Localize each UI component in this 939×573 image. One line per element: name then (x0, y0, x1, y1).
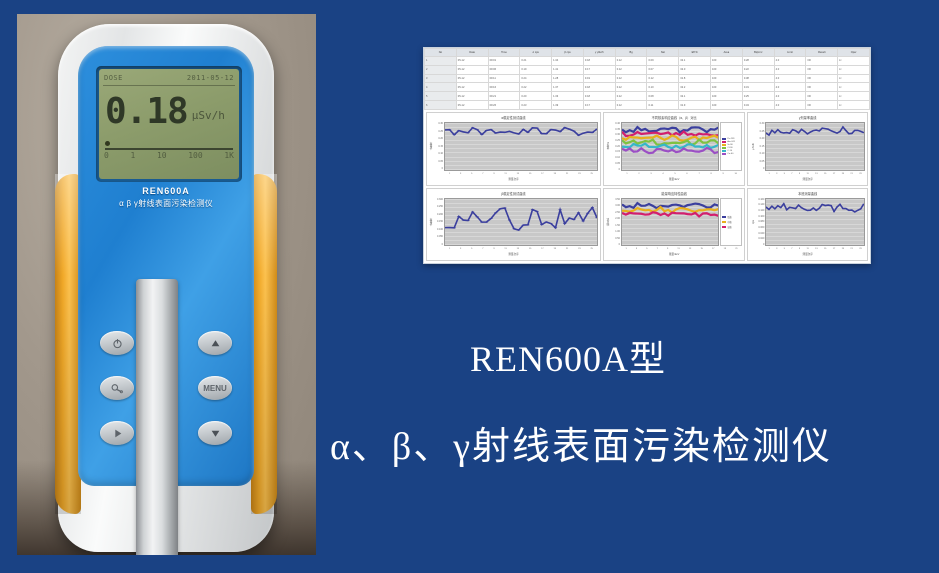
chart-title: 本底测量曲线 (750, 191, 865, 198)
chart-data-point (563, 223, 566, 224)
chart-data-point (558, 209, 561, 210)
chart-data-point (522, 224, 525, 225)
x-tick: 7 (698, 173, 699, 175)
legend-item: 低能 (722, 215, 740, 219)
legend-item: Pu-239 (722, 138, 740, 140)
chart-data-point (860, 131, 862, 132)
chart-x-axis-label: 测量次序 (750, 177, 865, 183)
table-column-header: Oper (838, 49, 870, 57)
legend-label: 高能 (727, 225, 731, 229)
y-tick: 0.30 (435, 122, 443, 125)
lcd-scale-tick: 10 (157, 151, 167, 165)
y-tick: 0.15 (435, 145, 443, 148)
table-cell: 0.38 (742, 74, 774, 83)
x-tick: 11 (806, 173, 808, 175)
x-tick: 21 (850, 173, 852, 175)
x-tick: 15 (824, 248, 826, 250)
chart-data-point (476, 216, 479, 217)
chart-data-point (792, 129, 794, 130)
x-tick: 13 (815, 173, 817, 175)
x-tick: 8 (710, 173, 711, 175)
chart-data-point (795, 130, 797, 131)
legend-swatch (722, 150, 726, 152)
x-tick: 7 (482, 173, 483, 175)
x-tick: 9 (493, 248, 494, 250)
table-cell: 0.12 (615, 92, 647, 101)
x-tick: 25 (590, 173, 592, 175)
chart-data-point (489, 129, 492, 130)
y-tick: 1.00 (612, 230, 620, 233)
legend-swatch (722, 221, 726, 223)
y-tick: 0.060 (756, 226, 764, 229)
chart-data-point (819, 207, 821, 208)
y-tick: 0.120 (756, 209, 764, 212)
chart-data-point (503, 207, 506, 208)
y-tick: 0.35 (612, 128, 620, 131)
x-tick: 19 (842, 173, 844, 175)
search-button[interactable] (100, 376, 134, 400)
table-cell: 0.22 (742, 65, 774, 74)
y-tick: 0.10 (435, 152, 443, 155)
chart-y-ticks: 0.1600.1400.1200.1000.0800.0600.0400.020… (756, 198, 765, 247)
chart-data-point (499, 132, 502, 133)
table-cell: 0.18 (583, 57, 615, 66)
chart-x-axis-label: 测量次序 (750, 252, 865, 258)
lcd-scale-tick: 100 (188, 151, 202, 165)
power-button[interactable] (100, 331, 134, 355)
product-description-title: α、β、γ射线表面污染检测仪 (330, 415, 930, 470)
chart-data-point (780, 132, 782, 133)
chart-data-point (549, 129, 552, 130)
chart-data-point (471, 211, 474, 212)
x-tick: 5 (646, 248, 647, 250)
table-row[interactable]: 405-1209:160.221.370.180.120.1032.21000.… (425, 83, 870, 92)
legend-item: 中能 (722, 220, 740, 224)
chart-data-point (816, 209, 818, 210)
chart-series-line (622, 212, 718, 216)
chart-data-point (448, 129, 451, 130)
chart-data-point (833, 210, 835, 211)
chart-data-point (485, 130, 488, 131)
table-cell: 0.11 (647, 101, 679, 110)
table-column-header: No (425, 49, 457, 57)
chart-data-point (851, 133, 853, 134)
lcd-screen: DOSE 2011-05-12 0.18 μSv/h 0 1 10 100 (99, 69, 239, 179)
chart-data-point (545, 221, 548, 222)
chart-gamma-dose[interactable]: γ剂量率曲线μSv/h0.300.250.200.150.100.0501357… (747, 112, 868, 186)
chart-data-point (535, 128, 538, 129)
chart-series-line (622, 207, 718, 213)
table-cell: 1.37 (552, 83, 584, 92)
lcd-reading-unit: μSv/h (192, 109, 225, 122)
chart-data-point (462, 131, 465, 132)
x-tick: 11 (677, 248, 679, 250)
x-tick: 15 (824, 173, 826, 175)
chart-data-point (554, 130, 557, 131)
x-tick: 3 (776, 173, 777, 175)
chart-data-point (768, 208, 770, 209)
table-cell: 0.19 (583, 74, 615, 83)
chart-x-axis-label: 能量/keV (606, 177, 742, 183)
chart-data-point (494, 212, 497, 213)
chart-multi-nuclide[interactable]: 不同核素响应曲线（α、β）对比效率%0.400.350.300.250.200.… (603, 112, 745, 186)
table-cell: 0.12 (615, 101, 647, 110)
menu-button[interactable]: MENU (198, 376, 232, 400)
x-tick: 23 (578, 173, 580, 175)
chart-data-point (854, 211, 856, 212)
y-tick: 0.20 (756, 137, 764, 140)
chart-alpha-stability[interactable]: α稳定性测试曲线计数率0.300.250.200.150.100.0501357… (426, 112, 601, 186)
legend-item: 高能 (722, 225, 740, 229)
x-tick: 15 (700, 248, 702, 250)
chart-y-ticks: 0.300.250.200.150.100.050 (756, 122, 765, 171)
x-tick: 13 (517, 248, 519, 250)
table-header-row: NoDateTimeα cpsβ cpsγ μSv/hBgNetEff %Are… (425, 49, 870, 57)
x-tick: 4 (662, 173, 663, 175)
chart-y-ticks: 0.3000.2500.2000.1500.1000.0500 (435, 198, 444, 247)
chart-data-point (581, 220, 584, 221)
x-tick: 9 (799, 248, 800, 250)
x-tick: 5 (471, 248, 472, 250)
table-cell: OK (806, 74, 838, 83)
x-tick: 13 (517, 173, 519, 175)
chart-data-point (798, 204, 800, 205)
chart-data-point (466, 219, 469, 220)
x-tick: 19 (724, 248, 726, 250)
x-tick: 5 (674, 173, 675, 175)
chart-title: γ剂量率曲线 (750, 115, 865, 122)
nameplate-description: α β γ射线表面污染检测仪 (78, 198, 254, 209)
chart-data-point (563, 127, 566, 128)
y-tick: 0.100 (435, 228, 443, 231)
down-button[interactable] (198, 421, 232, 445)
chart-energy-response[interactable]: 能量响应特性曲线响应比3.503.002.502.001.501.000.500… (603, 188, 745, 262)
lcd-scale-tick: 1K (224, 151, 234, 165)
table-cell: 100 (711, 74, 743, 83)
chart-plot-area (444, 198, 598, 247)
table-cell: 0.34 (742, 101, 774, 110)
table-cell: 32.0 (679, 65, 711, 74)
x-tick: 13 (689, 248, 691, 250)
y-tick: 0.040 (756, 232, 764, 235)
chart-data-point (839, 131, 841, 132)
legend-swatch (722, 144, 726, 146)
y-tick: 0.100 (756, 215, 764, 218)
table-cell: 32.2 (679, 83, 711, 92)
x-tick: 21 (566, 173, 568, 175)
x-tick: 21 (735, 248, 737, 250)
y-tick: 0.050 (435, 235, 443, 238)
chart-data-point (526, 224, 529, 225)
legend-swatch (722, 138, 726, 140)
chart-data-point (768, 135, 770, 136)
table-cell: 100 (711, 57, 743, 66)
table-row[interactable]: 305-1209:110.241.280.190.120.1231.81000.… (425, 74, 870, 83)
table-cell: LI (838, 92, 870, 101)
chart-series-line (622, 135, 718, 140)
table-cell: 1.41 (552, 65, 584, 74)
x-tick: 5 (471, 173, 472, 175)
x-tick: 9 (722, 173, 723, 175)
play-button[interactable] (100, 421, 134, 445)
chart-data-point (540, 133, 543, 134)
chart-x-axis-label: 测量次序 (429, 177, 598, 183)
x-tick: 21 (566, 248, 568, 250)
table-column-header: Limit (774, 49, 806, 57)
x-tick: 11 (504, 248, 506, 250)
chart-data-point (591, 132, 594, 133)
table-column-header: Net (647, 49, 679, 57)
chart-background[interactable]: 本底测量曲线cps0.1600.1400.1200.1000.0800.0600… (747, 188, 868, 262)
x-tick: 13 (815, 248, 817, 250)
x-tick: 5 (784, 173, 785, 175)
chart-data-point (508, 131, 511, 132)
table-cell: 0.17 (583, 101, 615, 110)
chart-y-ticks: 0.300.250.200.150.100.050 (435, 122, 444, 171)
chart-title: α稳定性测试曲线 (429, 115, 598, 122)
table-cell: 0.19 (520, 65, 552, 74)
chart-data-point (480, 221, 483, 222)
table-cell: LI (838, 65, 870, 74)
chart-data-point (777, 205, 779, 206)
chart-data-point (595, 217, 597, 218)
chart-data-point (821, 203, 823, 204)
lcd-status-left: DOSE (104, 74, 123, 82)
y-tick: 0.020 (756, 237, 764, 240)
x-tick: 15 (529, 248, 531, 250)
table-cell: 09:01 (488, 57, 520, 66)
table-cell: 32.1 (679, 92, 711, 101)
chart-plot-area (621, 122, 719, 171)
chart-series-line (622, 144, 718, 149)
lcd-reading-value: 0.18 (105, 94, 188, 130)
legend-item: C-14 (722, 150, 740, 152)
y-tick: 3.00 (612, 204, 620, 207)
chart-data-point (462, 219, 465, 220)
table-cell: 4.0 (774, 57, 806, 66)
lcd-scale-tick: 1 (130, 151, 135, 165)
legend-label: 中能 (727, 220, 731, 224)
chart-data-point (830, 205, 832, 206)
magnifier-icon (111, 383, 123, 394)
y-tick: 0.05 (612, 162, 620, 165)
chart-y-ticks: 3.503.002.502.001.501.000.500 (612, 198, 621, 247)
y-tick: 0.30 (756, 122, 764, 125)
x-tick: 6 (686, 173, 687, 175)
y-tick: 2.00 (612, 217, 620, 220)
table-cell: 05-12 (456, 65, 488, 74)
chart-data-point (833, 131, 835, 132)
chart-data-point (801, 207, 803, 208)
x-tick: 9 (667, 248, 668, 250)
y-tick: 0.140 (756, 203, 764, 206)
y-tick: 0.25 (612, 139, 620, 142)
table-row[interactable]: 505-1209:210.201.330.180.120.0832.11000.… (425, 92, 870, 101)
chart-plot-area (765, 198, 865, 247)
chart-data-point (854, 130, 856, 131)
x-tick: 7 (791, 248, 792, 250)
x-tick: 7 (791, 173, 792, 175)
radiation-detector-device: DOSE 2011-05-12 0.18 μSv/h 0 1 10 100 (58, 24, 274, 552)
table-column-header: Area (711, 49, 743, 57)
table-cell: LI (838, 74, 870, 83)
chart-data-point (499, 208, 502, 209)
chart-data-point (512, 132, 515, 133)
product-photo: DOSE 2011-05-12 0.18 μSv/h 0 1 10 100 (17, 14, 316, 555)
legend-swatch (722, 216, 726, 218)
x-tick: 21 (850, 248, 852, 250)
chart-data-point (453, 227, 456, 228)
chart-data-point (810, 132, 812, 133)
chart-data-point (540, 224, 543, 225)
table-cell: 4.0 (774, 92, 806, 101)
chart-data-point (845, 208, 847, 209)
chart-data-point (795, 208, 797, 209)
table-cell: 31.9 (679, 101, 711, 110)
table-cell: 0.21 (520, 57, 552, 66)
table-cell: 0.25 (742, 92, 774, 101)
chart-data-point (466, 132, 469, 133)
table-cell: 0.07 (647, 65, 679, 74)
x-tick: 23 (859, 248, 861, 250)
chart-data-point (804, 208, 806, 209)
chart-data-point (586, 132, 589, 133)
y-tick: 0.150 (435, 220, 443, 223)
chart-data-point (789, 133, 791, 134)
up-button[interactable] (198, 331, 232, 355)
table-cell: 4.0 (774, 65, 806, 74)
chart-data-point (535, 210, 538, 211)
table-cell: 4.0 (774, 83, 806, 92)
table-column-header: β cps (552, 49, 584, 57)
chart-data-point (836, 133, 838, 134)
table-cell: 0.18 (583, 83, 615, 92)
table-column-header: Result (806, 49, 838, 57)
y-tick: 3.50 (612, 198, 620, 201)
y-tick: 0.250 (435, 205, 443, 208)
chart-data-point (489, 218, 492, 219)
arrow-up-icon (210, 338, 221, 349)
legend-label: Cl-36 (727, 147, 732, 149)
chart-data-point (568, 129, 571, 130)
chart-plot-area (444, 122, 598, 171)
table-row[interactable]: 105-1209:010.211.340.180.120.0932.11000.… (425, 57, 870, 66)
table-row[interactable]: 205-1209:060.191.410.170.120.0732.01000.… (425, 65, 870, 74)
chart-data-point (842, 208, 844, 209)
arrow-down-icon (210, 428, 221, 439)
chart-data-point (857, 130, 859, 131)
x-tick: 7 (482, 248, 483, 250)
chart-beta-stability[interactable]: β稳定性测试曲线计数率0.3000.2500.2000.1500.1000.05… (426, 188, 601, 262)
chart-data-point (851, 209, 853, 210)
chart-data-point (810, 209, 812, 210)
table-cell: 0.09 (647, 57, 679, 66)
table-cell: OK (806, 57, 838, 66)
x-tick: 19 (554, 248, 556, 250)
table-column-header: Bq/cm² (742, 49, 774, 57)
table-cell: LI (838, 57, 870, 66)
table-cell: 05-12 (456, 83, 488, 92)
table-cell: 0.08 (647, 92, 679, 101)
table-column-header: Bg (615, 49, 647, 57)
chart-series-line (622, 132, 718, 136)
legend-label: Pu-239 (727, 138, 734, 140)
play-icon (112, 428, 123, 439)
table-cell: 09:26 (488, 101, 520, 110)
table-row[interactable]: 605-1209:260.231.390.170.120.1131.91000.… (425, 101, 870, 110)
chart-data-point (526, 132, 529, 133)
chart-data-point (816, 130, 818, 131)
measurement-data-table: NoDateTimeα cpsβ cpsγ μSv/hBgNetEff %Are… (424, 48, 870, 110)
chart-data-point (824, 204, 826, 205)
legend-label: Sr-90 (727, 144, 732, 146)
table-column-header: α cps (520, 49, 552, 57)
x-tick: 11 (504, 173, 506, 175)
table-cell: OK (806, 101, 838, 110)
legend-swatch (722, 226, 726, 228)
chart-legend: Pu-239Am-241Sr-90Cl-36C-14Co-60 (720, 122, 742, 171)
lcd-status-right: 2011-05-12 (187, 74, 234, 82)
table-column-header: γ μSv/h (583, 49, 615, 57)
chart-data-point (531, 127, 534, 128)
chart-x-axis-label: 测量次序 (429, 252, 598, 258)
legend-swatch (722, 141, 726, 143)
x-tick: 1 (769, 173, 770, 175)
product-model-title: REN600A型 (470, 330, 910, 382)
chart-data-point (804, 131, 806, 132)
table-cell: 0.23 (520, 101, 552, 110)
chart-data-point (827, 129, 829, 130)
chart-data-point (789, 206, 791, 207)
x-tick: 1 (626, 248, 627, 250)
table-cell: 4.0 (774, 101, 806, 110)
chart-data-point (798, 132, 800, 133)
table-cell: 32.1 (679, 57, 711, 66)
table-cell: 05-12 (456, 92, 488, 101)
table-cell: 100 (711, 65, 743, 74)
chart-data-point (848, 209, 850, 210)
table-cell: 05-12 (456, 74, 488, 83)
x-tick: 9 (799, 173, 800, 175)
chart-data-point (457, 215, 460, 216)
table-cell: 0.22 (520, 83, 552, 92)
chart-data-point (813, 207, 815, 208)
chart-data-point (830, 130, 832, 131)
y-tick: 0.05 (756, 160, 764, 163)
table-cell: 1 (425, 57, 457, 66)
legend-label: Co-60 (727, 153, 733, 155)
y-tick: 0.300 (435, 198, 443, 201)
x-tick: 17 (541, 248, 543, 250)
table-cell: 05-12 (456, 57, 488, 66)
chart-data-point (586, 212, 589, 213)
chart-data-point (457, 130, 460, 131)
chart-data-point (848, 133, 850, 134)
table-cell: 05-12 (456, 101, 488, 110)
chart-data-point (777, 129, 779, 130)
y-tick: 0.05 (435, 160, 443, 163)
x-tick: 5 (784, 248, 785, 250)
handle-metal-strip (136, 279, 178, 555)
chart-data-point (522, 129, 525, 130)
table-cell: OK (806, 92, 838, 101)
chart-data-point (508, 219, 511, 220)
software-screenshot-panel: NoDateTimeα cpsβ cpsγ μSv/hBgNetEff %Are… (423, 47, 871, 264)
legend-label: 低能 (727, 215, 731, 219)
table-cell: 0.10 (647, 83, 679, 92)
chart-data-point (568, 217, 571, 218)
x-tick: 3 (636, 248, 637, 250)
